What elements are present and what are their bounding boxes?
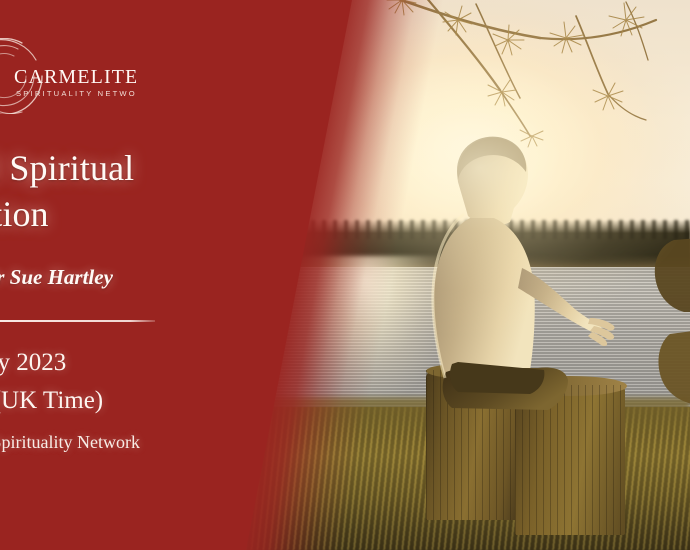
event-date: anuary 2023 bbox=[0, 344, 262, 382]
banner-content: CARMELITE SPIRITUALITY NETWORK and Spiri… bbox=[0, 0, 340, 550]
event-time: 3:30 (UK Time) bbox=[0, 382, 262, 420]
carmelite-circles-logo-icon: CARMELITE SPIRITUALITY NETWORK bbox=[0, 38, 136, 114]
page-title: and Spiritual rection bbox=[0, 146, 248, 237]
logo-name: CARMELITE bbox=[14, 66, 136, 88]
title-line-1: and Spiritual bbox=[0, 146, 248, 192]
event-banner: CARMELITE SPIRITUALITY NETWORK and Spiri… bbox=[0, 0, 690, 550]
logo-tagline: SPIRITUALITY NETWORK bbox=[16, 89, 136, 98]
presenter-name: vd Dr Sue Hartley bbox=[0, 265, 256, 290]
event-datetime: anuary 2023 3:30 (UK Time) bbox=[0, 344, 262, 420]
organisation-name: melite Spirituality Network bbox=[0, 432, 262, 453]
title-line-2: rection bbox=[0, 192, 248, 238]
seated-person bbox=[418, 118, 648, 418]
divider bbox=[0, 320, 155, 322]
second-person bbox=[640, 238, 690, 418]
